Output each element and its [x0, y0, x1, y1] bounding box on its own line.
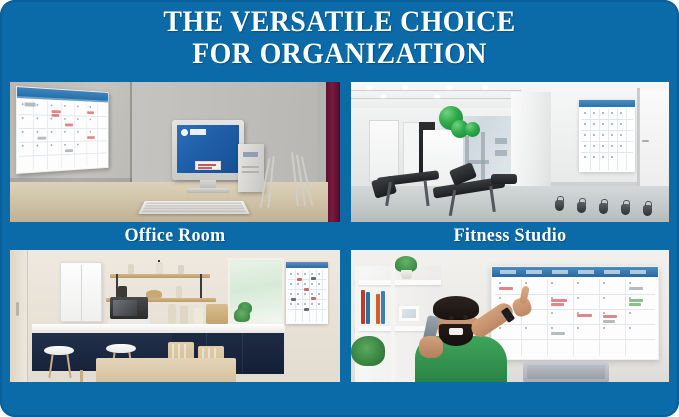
maroon-partition: [326, 82, 340, 222]
title-line-1: THE VERSATILE CHOICE: [24, 6, 655, 38]
shelf-jar: [178, 265, 184, 274]
shelf-upright: [355, 266, 359, 382]
tower-drive-slot: [242, 166, 259, 168]
book: [371, 290, 375, 324]
counter-jar: [168, 304, 176, 324]
kitchen-island-top: [32, 324, 284, 333]
laptop: [523, 362, 609, 382]
photo-kitchen: [10, 250, 340, 382]
kitchen-door-left: [10, 250, 28, 382]
photo-study-area: [351, 250, 669, 382]
brand-logo-icon: [181, 129, 188, 136]
kettlebell: [555, 200, 564, 211]
panel-study-area: Study Area: [351, 250, 669, 382]
kettlebell: [621, 204, 630, 215]
title-line-2: FOR ORGANIZATION: [24, 38, 655, 70]
book: [376, 294, 380, 324]
bar-stool: [106, 344, 136, 353]
exercise-ball-small: [465, 122, 480, 137]
tower-drive-slot-2: [242, 171, 259, 173]
kettlebell: [643, 205, 652, 216]
gym-column: [511, 92, 551, 196]
panel-grid: Office Room: [0, 80, 679, 417]
shelf-board: [355, 280, 441, 285]
microwave-door: [113, 300, 137, 316]
hand-holding-phone: [419, 336, 443, 358]
panel-kitchen: Kitchen: [10, 250, 340, 382]
poster-container: THE VERSATILE CHOICE FOR ORGANIZATION: [0, 0, 679, 417]
shelf-bowl: [146, 290, 162, 298]
table-leg: [80, 370, 83, 382]
photo-fitness-studio: [351, 82, 669, 222]
counter-jar: [180, 306, 188, 324]
shelf-bottle: [176, 286, 182, 298]
kettlebell: [599, 203, 608, 214]
screen-sticker: [195, 161, 221, 170]
eye: [463, 315, 468, 319]
calendar-grid: [19, 100, 107, 171]
shelf-bracket: [200, 274, 202, 298]
keyboard: [138, 201, 250, 214]
person-on-phone: [409, 296, 515, 382]
shelf-jar: [156, 262, 163, 274]
door-handle-icon: [642, 140, 649, 142]
panel-fitness-studio: Fitness Studio: [351, 82, 669, 222]
shelf-jar: [128, 264, 134, 274]
office-wall-calendar: [16, 86, 109, 174]
eye: [449, 316, 454, 320]
hair: [433, 296, 479, 320]
microwave: [110, 297, 148, 319]
book: [361, 290, 365, 324]
bench-pad-extra: [491, 174, 517, 184]
computer-monitor: [172, 120, 244, 180]
fridge-door-split: [81, 265, 82, 321]
counter-plant: [234, 308, 250, 322]
cable-bundle: [260, 152, 320, 210]
mouth: [449, 328, 463, 335]
dining-table: [96, 358, 236, 382]
panel-office-room: Office Room: [10, 82, 340, 222]
calendar-header-band: [579, 100, 635, 107]
wall-shelf-upper: [110, 274, 210, 278]
gym-door-left: [369, 120, 399, 182]
door-handle-icon: [16, 302, 19, 316]
bar-stool: [44, 346, 74, 355]
gym-wall-calendar: [579, 100, 635, 172]
brand-wordmark: [190, 129, 206, 135]
calendar-header-band: [492, 267, 658, 277]
calendar-header-band: [286, 262, 328, 268]
tower-logo-icon: [243, 152, 258, 157]
monitor-screen: [177, 125, 239, 173]
shelf-upright: [391, 266, 395, 382]
caption-office-room: Office Room: [18, 225, 332, 247]
monitor-base: [186, 188, 230, 193]
poster-title: THE VERSATILE CHOICE FOR ORGANIZATION: [0, 6, 679, 71]
kettlebell: [577, 202, 586, 213]
photo-office-room: [10, 82, 340, 222]
book: [366, 292, 370, 324]
caption-fitness-studio: Fitness Studio: [359, 225, 661, 247]
book: [381, 291, 385, 324]
kitchen-wall-calendar: [286, 262, 328, 324]
counter-container: [194, 308, 203, 324]
knife-block: [206, 304, 228, 324]
refrigerator: [60, 262, 102, 322]
floor-plant: [351, 336, 385, 366]
plant-pot: [401, 270, 412, 279]
